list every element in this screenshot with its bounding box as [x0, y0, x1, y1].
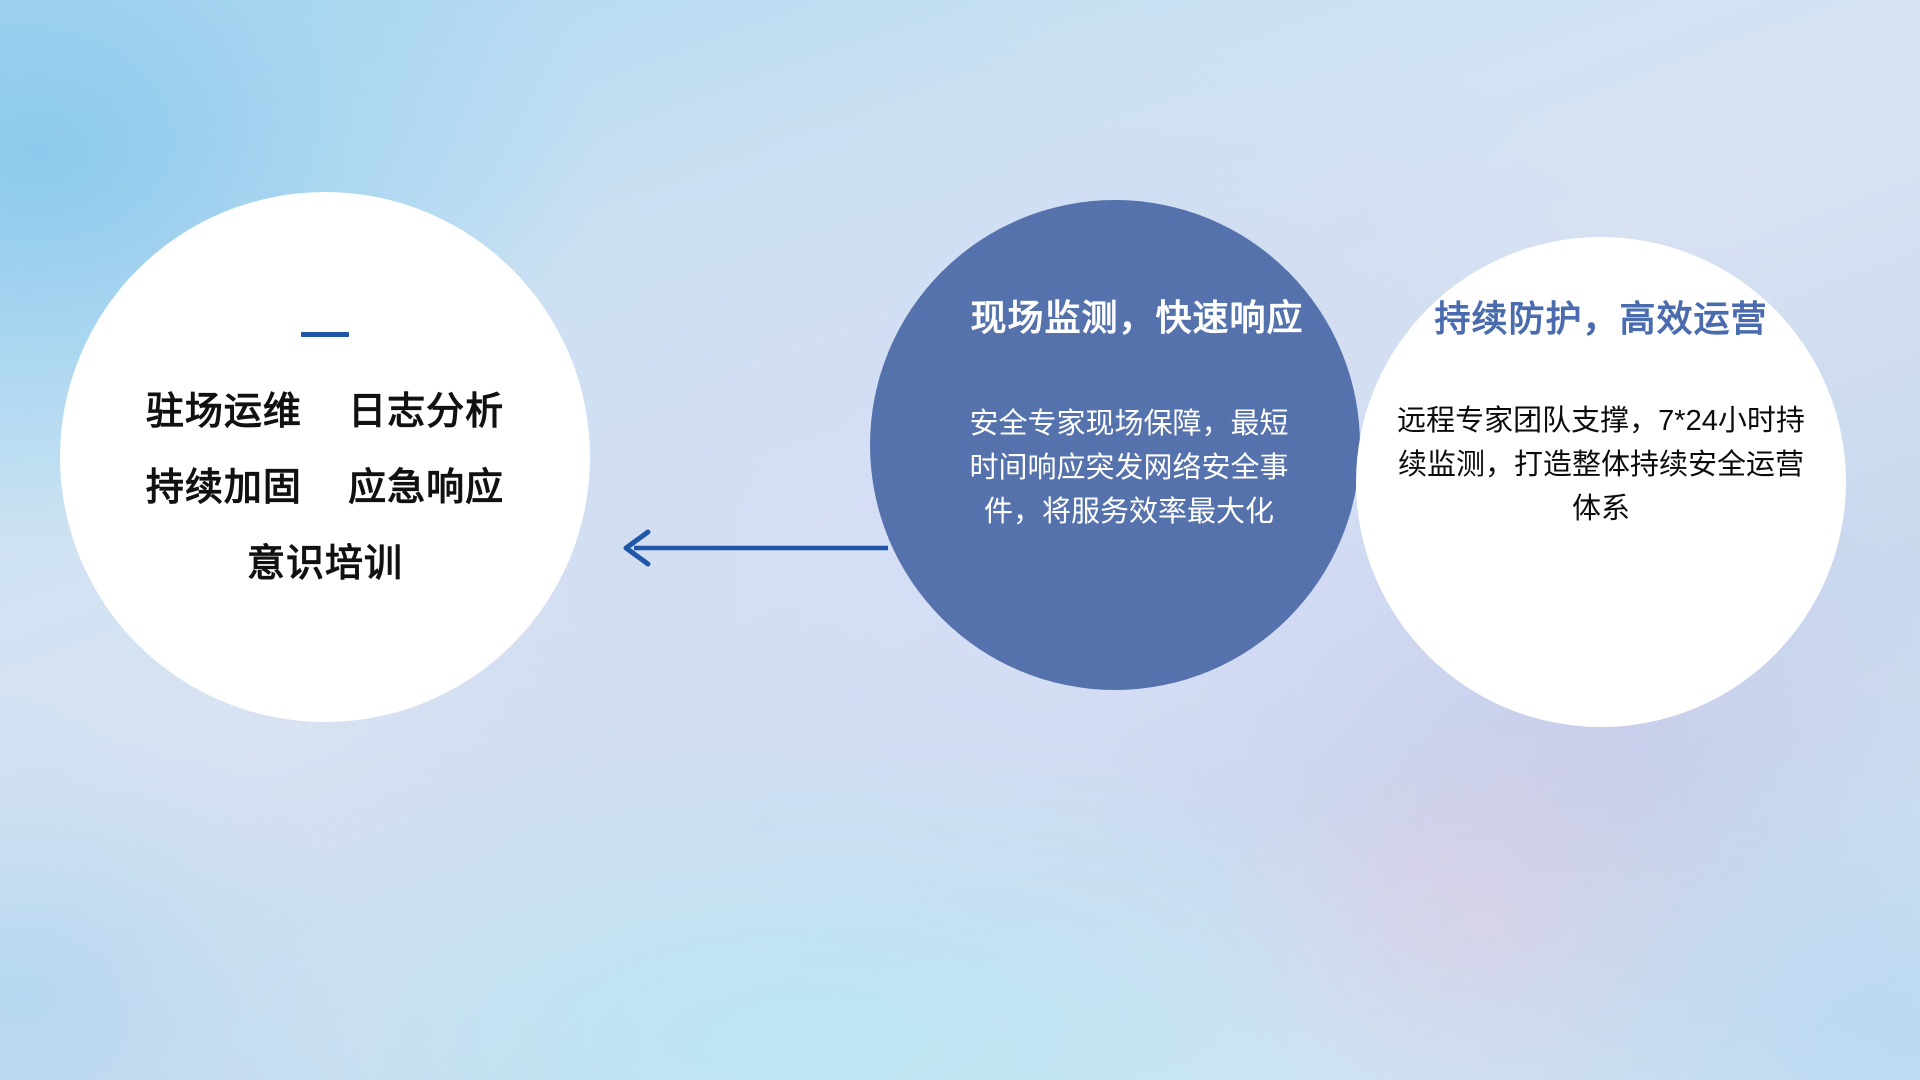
- center-circle-content: 现场监测，快速响应 安全专家现场保障，最短时间响应突发网络安全事件，将服务效率最…: [870, 200, 1360, 690]
- center-circle-title: 现场监测，快速响应: [970, 298, 1303, 338]
- center-circle-body: 安全专家现场保障，最短时间响应突发网络安全事件，将服务效率最大化: [964, 402, 1294, 534]
- right-circle-title: 持续防护，高效运营: [1434, 299, 1767, 339]
- slide-canvas: 驻场运维 日志分析 持续加固 应急响应 意识培训 现场监测，快速响应 安全专家现…: [0, 0, 1920, 1080]
- left-service-line-2: 持续加固 应急响应: [146, 469, 504, 507]
- left-service-line-1: 驻场运维 日志分析: [146, 393, 504, 431]
- right-circle-content: 持续防护，高效运营 远程专家团队支撑，7*24小时持续监测，打造整体持续安全运营…: [1356, 237, 1846, 727]
- flow-arrow-icon: [600, 518, 890, 578]
- left-circle-content: 驻场运维 日志分析 持续加固 应急响应 意识培训: [60, 192, 590, 722]
- left-divider-icon: [301, 332, 349, 337]
- right-circle-body: 远程专家团队支撑，7*24小时持续监测，打造整体持续安全运营体系: [1396, 399, 1806, 531]
- left-service-line-3: 意识培训: [247, 545, 403, 583]
